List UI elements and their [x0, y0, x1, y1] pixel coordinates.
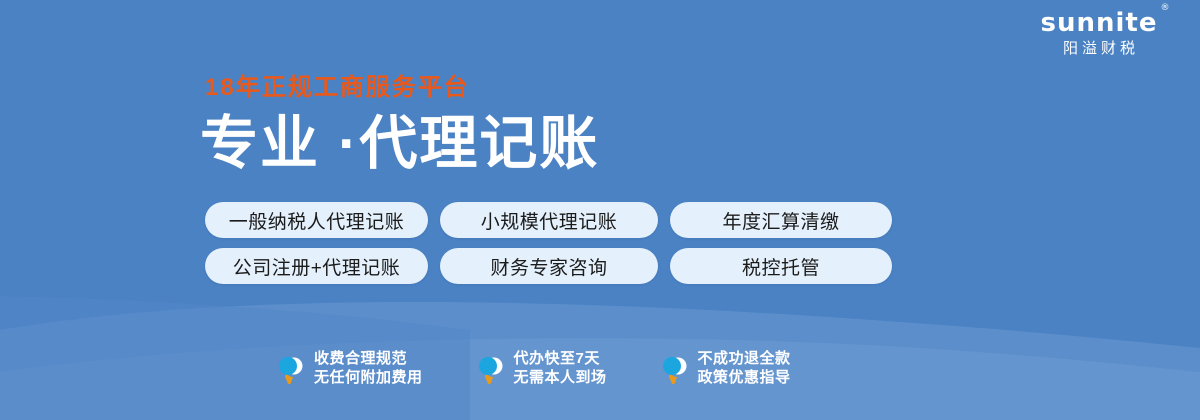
feature-item-pricing: 收费合理规范 无任何附加费用: [275, 349, 423, 387]
feature-line-2: 政策优惠指导: [698, 368, 791, 387]
eyebrow-text: 18年正规工商服务平台: [205, 74, 470, 102]
service-pill-company-registration[interactable]: 公司注册+代理记账: [205, 248, 428, 284]
promo-banner: sunnite ® 阳溢财税 18年正规工商服务平台 专业 ·代理记账 一般纳税…: [0, 0, 1200, 420]
feature-line-2: 无任何附加费用: [314, 368, 423, 387]
brand-logo[interactable]: sunnite ® 阳溢财税: [1014, 8, 1184, 59]
feature-line-1: 收费合理规范: [314, 349, 423, 368]
logo-wordmark-text: sunnite: [1041, 8, 1158, 38]
logo-chinese-name: 阳溢财税: [1014, 39, 1184, 59]
feature-text: 代办快至7天 无需本人到场: [514, 349, 607, 387]
feature-strip: 收费合理规范 无任何附加费用 代办快至7天 无需本人到场 不成功退全款: [275, 349, 791, 387]
feature-line-1: 不成功退全款: [698, 349, 791, 368]
registered-trademark-icon: ®: [1160, 4, 1170, 13]
circle-crescent-icon: [659, 352, 689, 384]
circle-crescent-icon: [275, 352, 305, 384]
service-pill-general-taxpayer[interactable]: 一般纳税人代理记账: [205, 202, 428, 238]
feature-item-guarantee: 不成功退全款 政策优惠指导: [659, 349, 791, 387]
page-title: 专业 ·代理记账: [200, 112, 599, 176]
service-pill-row: 一般纳税人代理记账 小规模代理记账 年度汇算清缴: [205, 202, 892, 238]
service-pill-annual-settlement[interactable]: 年度汇算清缴: [670, 202, 892, 238]
circle-crescent-icon: [475, 352, 505, 384]
feature-text: 不成功退全款 政策优惠指导: [698, 349, 791, 387]
feature-line-1: 代办快至7天: [514, 349, 607, 368]
service-pill-small-scale[interactable]: 小规模代理记账: [440, 202, 658, 238]
feature-text: 收费合理规范 无任何附加费用: [314, 349, 423, 387]
service-pill-expert-consulting[interactable]: 财务专家咨询: [440, 248, 658, 284]
service-pill-row: 公司注册+代理记账 财务专家咨询 税控托管: [205, 248, 892, 284]
service-pill-tax-control-hosting[interactable]: 税控托管: [670, 248, 892, 284]
service-pill-grid: 一般纳税人代理记账 小规模代理记账 年度汇算清缴 公司注册+代理记账 财务专家咨…: [205, 202, 892, 284]
logo-wordmark: sunnite ®: [1041, 8, 1158, 38]
feature-item-speed: 代办快至7天 无需本人到场: [475, 349, 607, 387]
feature-line-2: 无需本人到场: [514, 368, 607, 387]
